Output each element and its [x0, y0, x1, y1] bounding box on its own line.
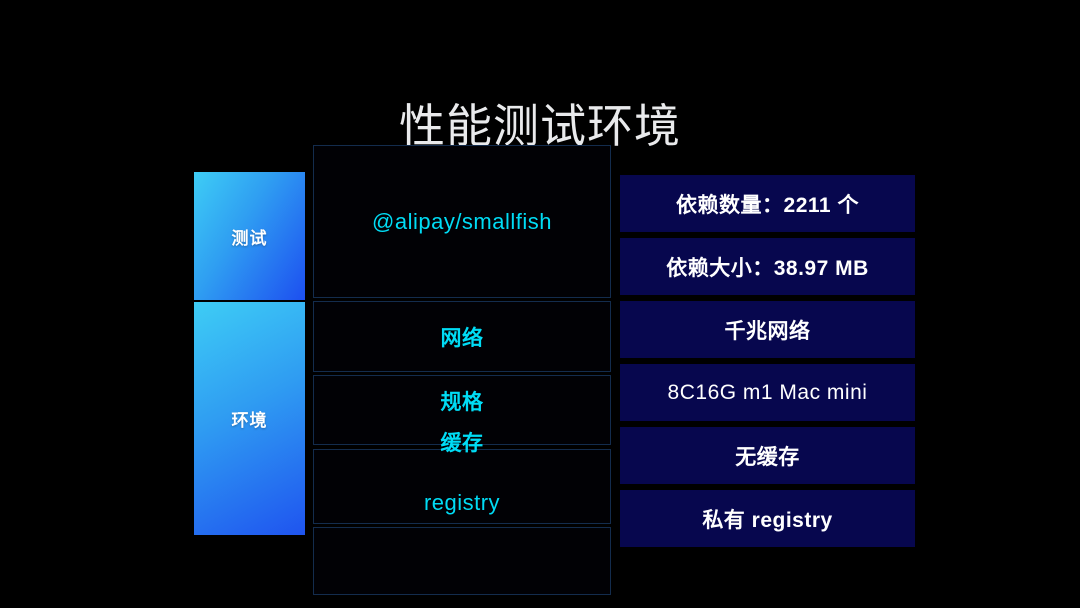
value-text-cache: 无缓存: [735, 441, 800, 471]
value-text-network: 千兆网络: [725, 315, 811, 345]
value-text-dependency-count: 依赖数量：2211 个: [676, 189, 859, 219]
presentation-slide: 性能测试环境 测试 环境 @alipay/smallfish 网络 规格 缓存 …: [0, 0, 1080, 608]
value-column: 依赖数量：2211 个 依赖大小：38.97 MB 千兆网络 8C16G m1 …: [620, 175, 915, 553]
key-box-empty[interactable]: [313, 527, 611, 595]
key-label-spec: 规格: [441, 386, 484, 416]
value-box-dependency-size[interactable]: 依赖大小：38.97 MB: [620, 238, 915, 295]
value-text-spec: 8C16G m1 Mac mini: [668, 381, 868, 405]
key-box-package[interactable]: @alipay/smallfish: [313, 145, 611, 298]
value-box-cache[interactable]: 无缓存: [620, 427, 915, 484]
key-box-network[interactable]: 网络: [313, 301, 611, 372]
value-box-registry[interactable]: 私有 registry: [620, 490, 915, 547]
category-label-environment: 环境: [232, 406, 268, 431]
category-block-environment[interactable]: 环境: [194, 302, 305, 535]
key-label-cache: 缓存: [314, 427, 610, 457]
value-box-dependency-count[interactable]: 依赖数量：2211 个: [620, 175, 915, 232]
key-label-registry: registry: [314, 490, 610, 516]
key-label-network: 网络: [441, 322, 484, 352]
category-column: 测试 环境: [194, 172, 305, 535]
key-box-cache-registry[interactable]: 缓存 registry: [313, 449, 611, 524]
key-stack-cache-registry: 缓存 registry: [314, 450, 610, 523]
value-box-network[interactable]: 千兆网络: [620, 301, 915, 358]
key-label-package: @alipay/smallfish: [372, 209, 552, 235]
category-label-test: 测试: [232, 224, 268, 249]
value-text-registry: 私有 registry: [702, 504, 832, 534]
key-column: @alipay/smallfish 网络 规格 缓存 registry: [313, 145, 611, 595]
category-block-test[interactable]: 测试: [194, 172, 305, 300]
value-box-spec[interactable]: 8C16G m1 Mac mini: [620, 364, 915, 421]
value-text-dependency-size: 依赖大小：38.97 MB: [666, 252, 869, 282]
